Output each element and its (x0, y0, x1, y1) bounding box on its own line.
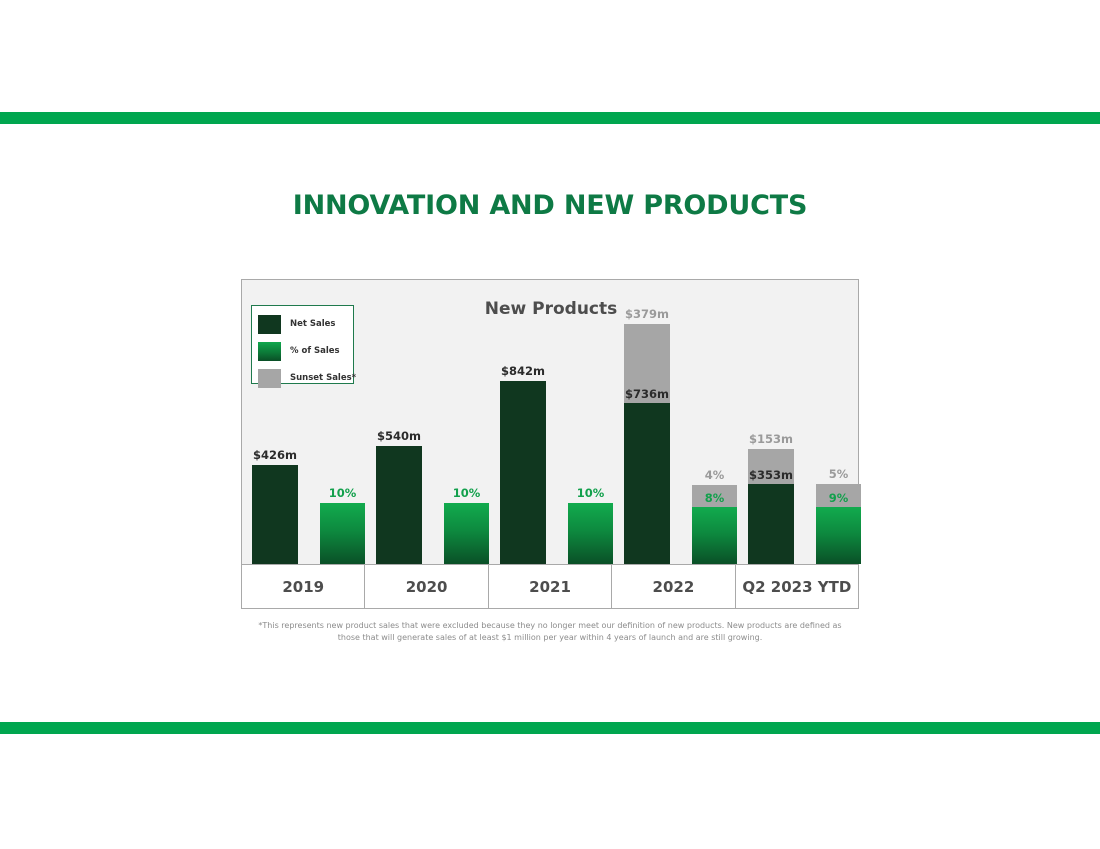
axis-label-q2-2023: Q2 2023 YTD (736, 565, 858, 608)
bar-2022-net-sales: $379m $736m (624, 324, 670, 564)
bar-label-q2-2023-sunset-sales: $153m (739, 432, 803, 446)
bar-label-q2-2023-net-sales: $353m (739, 468, 803, 482)
bar-segment-net-sales (252, 465, 298, 564)
category-axis-row: 2019 2020 2021 2022 Q2 2023 YTD (241, 565, 859, 609)
bar-2021-percent-of-sales: 10% (568, 503, 613, 564)
bar-label-2022-sunset-sales: $379m (615, 307, 679, 321)
bar-label-q2-2023-percent-of-sales: 9% (807, 491, 870, 505)
bar-label-2021-net-sales: $842m (491, 364, 555, 378)
bar-segment-percent-of-sales (568, 503, 613, 564)
bar-label-2020-net-sales: $540m (367, 429, 431, 443)
bar-label-2020-percent-of-sales: 10% (435, 486, 498, 500)
bar-label-2021-percent-of-sales: 10% (559, 486, 622, 500)
chart-panel: New Products Net Sales % of Sales Sunset… (241, 279, 859, 565)
bar-label-q2-2023-percent-sunset: 5% (807, 467, 870, 481)
bar-2019-net-sales: $426m (252, 465, 298, 564)
footnote-text: *This represents new product sales that … (250, 620, 850, 643)
axis-label-2020: 2020 (365, 565, 488, 608)
axis-label-2022: 2022 (612, 565, 735, 608)
bar-q2-2023-net-sales: $153m $353m (748, 449, 794, 564)
bar-segment-net-sales (624, 403, 670, 564)
bar-label-2022-percent-of-sales: 8% (683, 491, 746, 505)
bar-label-2022-percent-sunset: 4% (683, 468, 746, 482)
bar-2021-net-sales: $842m (500, 381, 546, 564)
bar-2020-percent-of-sales: 10% (444, 503, 489, 564)
bar-q2-2023-percent-of-sales: 5% 9% (816, 484, 861, 564)
bar-label-2019-percent-of-sales: 10% (311, 486, 374, 500)
bar-segment-percent-of-sales (816, 507, 861, 564)
bar-2020-net-sales: $540m (376, 446, 422, 564)
bar-label-2019-net-sales: $426m (243, 448, 307, 462)
bar-segment-net-sales (500, 381, 546, 564)
bar-segment-percent-of-sales (692, 507, 737, 564)
bar-segment-percent-of-sales (444, 503, 489, 564)
page-title: INNOVATION AND NEW PRODUCTS (0, 190, 1100, 221)
bar-segment-percent-of-sales (320, 503, 365, 564)
plot-area: $426m 10% $540m 10% $842m 10% $379m (248, 280, 854, 564)
top-accent-rule (0, 112, 1100, 124)
bar-2022-percent-of-sales: 4% 8% (692, 485, 737, 564)
bottom-accent-rule (0, 722, 1100, 734)
bar-segment-net-sales (748, 484, 794, 564)
bar-2019-percent-of-sales: 10% (320, 503, 365, 564)
bar-segment-net-sales (376, 446, 422, 564)
bar-label-2022-net-sales: $736m (615, 387, 679, 401)
axis-label-2021: 2021 (489, 565, 612, 608)
axis-label-2019: 2019 (242, 565, 365, 608)
